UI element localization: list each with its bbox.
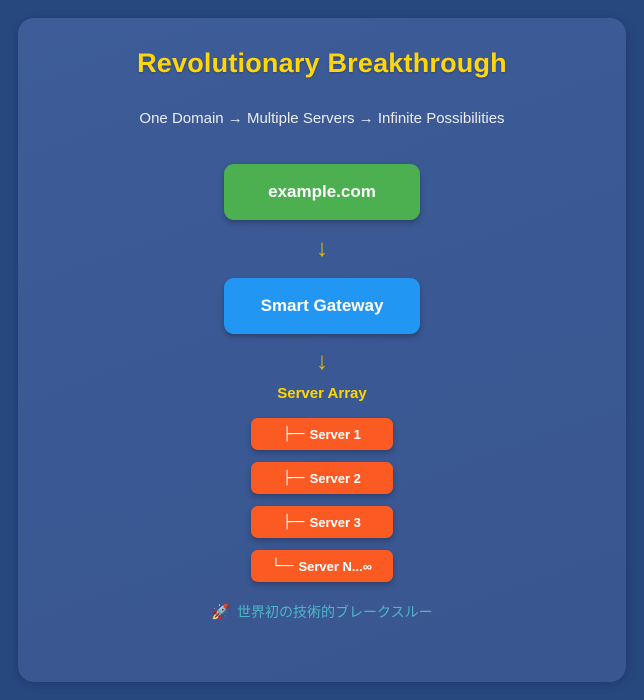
tree-branch-icon: ├── — [283, 471, 303, 486]
arrow-down-icon-1: ↓ — [316, 232, 328, 266]
node-server-n-label: Server N...∞ — [298, 559, 372, 574]
architecture-card: Revolutionary Breakthrough One Domain → … — [18, 18, 626, 682]
node-gateway[interactable]: Smart Gateway — [224, 278, 420, 334]
tree-branch-icon: ├── — [283, 427, 303, 442]
page-title: Revolutionary Breakthrough — [117, 48, 527, 79]
node-server-2-label: Server 2 — [310, 471, 361, 486]
footer-tagline-text: 世界初の技術的ブレークスルー — [237, 602, 433, 622]
tree-branch-end-icon: └── — [272, 559, 292, 574]
node-gateway-label: Smart Gateway — [261, 296, 384, 316]
node-server-3[interactable]: ├── Server 3 — [251, 506, 393, 538]
server-array-label: Server Array — [277, 385, 367, 402]
screenshot-stage: Revolutionary Breakthrough One Domain → … — [0, 0, 644, 700]
node-server-1-label: Server 1 — [310, 427, 361, 442]
node-domain-label: example.com — [268, 182, 376, 202]
node-domain[interactable]: example.com — [224, 164, 420, 220]
node-server-1[interactable]: ├── Server 1 — [251, 418, 393, 450]
arrow-down-icon-2: ↓ — [316, 345, 328, 379]
node-server-3-label: Server 3 — [310, 515, 361, 530]
server-list: ├── Server 1 ├── Server 2 ├── Server 3 └… — [251, 418, 393, 592]
page-subtitle: One Domain → Multiple Servers → Infinite… — [119, 110, 524, 127]
node-server-n[interactable]: └── Server N...∞ — [251, 550, 393, 582]
tree-branch-icon: ├── — [283, 515, 303, 530]
footer-tagline: 🚀 世界初の技術的ブレークスルー — [211, 602, 432, 622]
rocket-icon: 🚀 — [211, 605, 230, 620]
node-server-2[interactable]: ├── Server 2 — [251, 462, 393, 494]
